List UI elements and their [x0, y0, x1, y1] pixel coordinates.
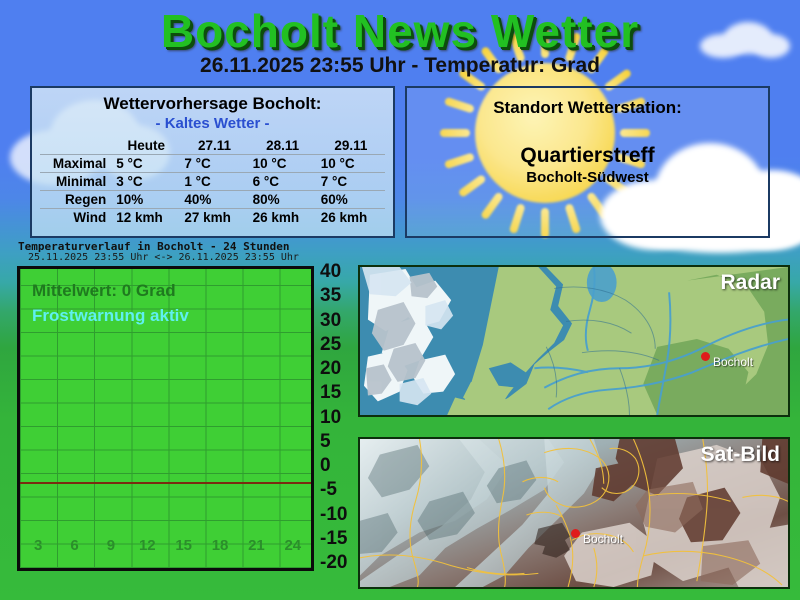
x-tick: 6	[56, 537, 92, 554]
table-row: Regen 10% 40% 80% 60%	[40, 191, 385, 209]
temperature-chart: Mittelwert: 0 Grad Frostwarnung aktiv 3 …	[17, 266, 314, 571]
radar-label: Radar	[720, 271, 780, 295]
cell-wind-day2: 27 kmh	[180, 209, 248, 227]
y-tick: 5	[318, 432, 358, 451]
row-label-minimal: Minimal	[40, 173, 112, 191]
row-label-regen: Regen	[40, 191, 112, 209]
bocholt-marker-dot	[701, 352, 710, 361]
zero-degree-line	[20, 482, 311, 484]
chart-y-axis: 40 35 30 25 20 15 10 5 0 -5 -10 -15 -20	[318, 262, 358, 572]
y-tick: 30	[318, 311, 358, 330]
y-tick: -15	[318, 529, 358, 548]
y-tick: 10	[318, 408, 358, 427]
cell-wind-day3: 26 kmh	[249, 209, 317, 227]
cell-wind-day4: 26 kmh	[317, 209, 385, 227]
y-tick: 15	[318, 383, 358, 402]
column-header-heute: Heute	[112, 137, 180, 155]
y-tick: 25	[318, 335, 358, 354]
y-tick: 0	[318, 456, 358, 475]
cell-minimal-day4: 7 °C	[317, 173, 385, 191]
x-tick: 12	[129, 537, 165, 554]
table-row: Wind 12 kmh 27 kmh 26 kmh 26 kmh	[40, 209, 385, 227]
chart-x-axis: 3 6 9 12 15 18 21 24	[20, 537, 311, 554]
bocholt-marker-label: Bocholt	[713, 355, 753, 369]
x-tick: 18	[202, 537, 238, 554]
station-name: Quartierstreff	[407, 144, 768, 168]
row-label-maximal: Maximal	[40, 155, 112, 173]
cell-maximal-day3: 10 °C	[249, 155, 317, 173]
cell-minimal-day3: 6 °C	[249, 173, 317, 191]
y-tick: -5	[318, 480, 358, 499]
cell-regen-day3: 80%	[249, 191, 317, 209]
x-tick: 3	[20, 537, 56, 554]
cell-minimal-day2: 1 °C	[180, 173, 248, 191]
table-row: Minimal 3 °C 1 °C 6 °C 7 °C	[40, 173, 385, 191]
cell-minimal-heute: 3 °C	[112, 173, 180, 191]
x-tick: 24	[275, 537, 311, 554]
cell-maximal-heute: 5 °C	[112, 155, 180, 173]
station-title: Standort Wetterstation:	[407, 98, 768, 118]
column-header-day4: 29.11	[317, 137, 385, 155]
station-panel: Standort Wetterstation: Quartierstreff B…	[405, 86, 770, 238]
row-label-wind: Wind	[40, 209, 112, 227]
satellite-map-panel[interactable]: Sat-Bild Bocholt	[358, 437, 790, 589]
chart-subtitle: 25.11.2025 23:55 Uhr <-> 26.11.2025 23:5…	[28, 252, 299, 263]
cell-regen-day2: 40%	[180, 191, 248, 209]
x-tick: 9	[93, 537, 129, 554]
cell-regen-heute: 10%	[112, 191, 180, 209]
x-tick: 21	[238, 537, 274, 554]
satellite-label: Sat-Bild	[701, 443, 780, 467]
chart-mean-label: Mittelwert: 0 Grad	[32, 281, 176, 301]
cell-maximal-day2: 7 °C	[180, 155, 248, 173]
forecast-panel: Wettervorhersage Bocholt: - Kaltes Wette…	[30, 86, 395, 238]
page-title: Bocholt News Wetter	[0, 4, 800, 58]
forecast-table: Heute 27.11 28.11 29.11 Maximal 5 °C 7 °…	[40, 137, 385, 226]
forecast-summary: - Kaltes Wetter -	[32, 115, 393, 132]
cell-maximal-day4: 10 °C	[317, 155, 385, 173]
header-subtitle: 26.11.2025 23:55 Uhr - Temperatur: Grad	[0, 54, 800, 78]
chart-frost-warning: Frostwarnung aktiv	[32, 306, 189, 326]
table-header-row: Heute 27.11 28.11 29.11	[40, 137, 385, 155]
x-tick: 15	[166, 537, 202, 554]
cell-wind-heute: 12 kmh	[112, 209, 180, 227]
cell-regen-day4: 60%	[317, 191, 385, 209]
y-tick: -10	[318, 505, 358, 524]
y-tick: 20	[318, 359, 358, 378]
table-row: Maximal 5 °C 7 °C 10 °C 10 °C	[40, 155, 385, 173]
bocholt-marker-label: Bocholt	[583, 532, 623, 546]
station-district: Bocholt-Südwest	[407, 169, 768, 186]
y-tick: -20	[318, 553, 358, 572]
bocholt-marker-dot	[571, 529, 580, 538]
y-tick: 35	[318, 286, 358, 305]
y-tick: 40	[318, 262, 358, 281]
radar-map-panel[interactable]: Radar Bocholt	[358, 265, 790, 417]
column-header-corner	[40, 137, 112, 155]
column-header-day3: 28.11	[249, 137, 317, 155]
forecast-title: Wettervorhersage Bocholt:	[32, 94, 393, 114]
column-header-day2: 27.11	[180, 137, 248, 155]
